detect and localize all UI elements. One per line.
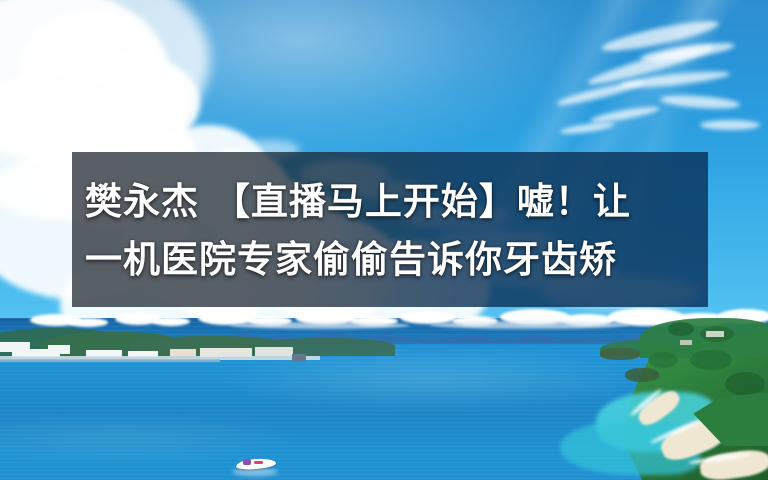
- boat-wake: [232, 468, 278, 476]
- boat-marking: [254, 461, 263, 464]
- horizon-cloud: [152, 317, 190, 326]
- cliff-rocks: [600, 348, 640, 360]
- headland-structure: [706, 331, 724, 337]
- headland-foliage: [648, 352, 678, 368]
- title-line-2: 一机医院专家偷偷告诉你牙齿矫: [85, 230, 697, 288]
- promo-title: 樊永杰 【直播马上开始】嘘！让 一机医院专家偷偷告诉你牙齿矫: [85, 172, 697, 288]
- banner-image: 樊永杰 【直播马上开始】嘘！让 一机医院专家偷偷告诉你牙齿矫: [0, 0, 768, 480]
- coastal-building: [48, 345, 70, 354]
- title-line-1: 樊永杰 【直播马上开始】嘘！让: [85, 172, 697, 230]
- boat-cabin: [243, 459, 251, 465]
- horizon-cloud: [230, 322, 410, 329]
- horizon-cloud: [430, 321, 630, 329]
- coastal-building: [170, 349, 196, 356]
- shoreline-strip: [0, 359, 220, 362]
- horizon-cloud: [68, 318, 108, 327]
- coastal-building: [255, 347, 293, 356]
- breakwater: [292, 354, 306, 362]
- headland-structure: [680, 340, 692, 345]
- cirrus-cloud: [700, 120, 760, 130]
- headland-foliage: [725, 372, 765, 396]
- cliff-rocks: [625, 368, 659, 382]
- headland-foliage: [690, 350, 732, 370]
- headland-foliage: [668, 322, 694, 336]
